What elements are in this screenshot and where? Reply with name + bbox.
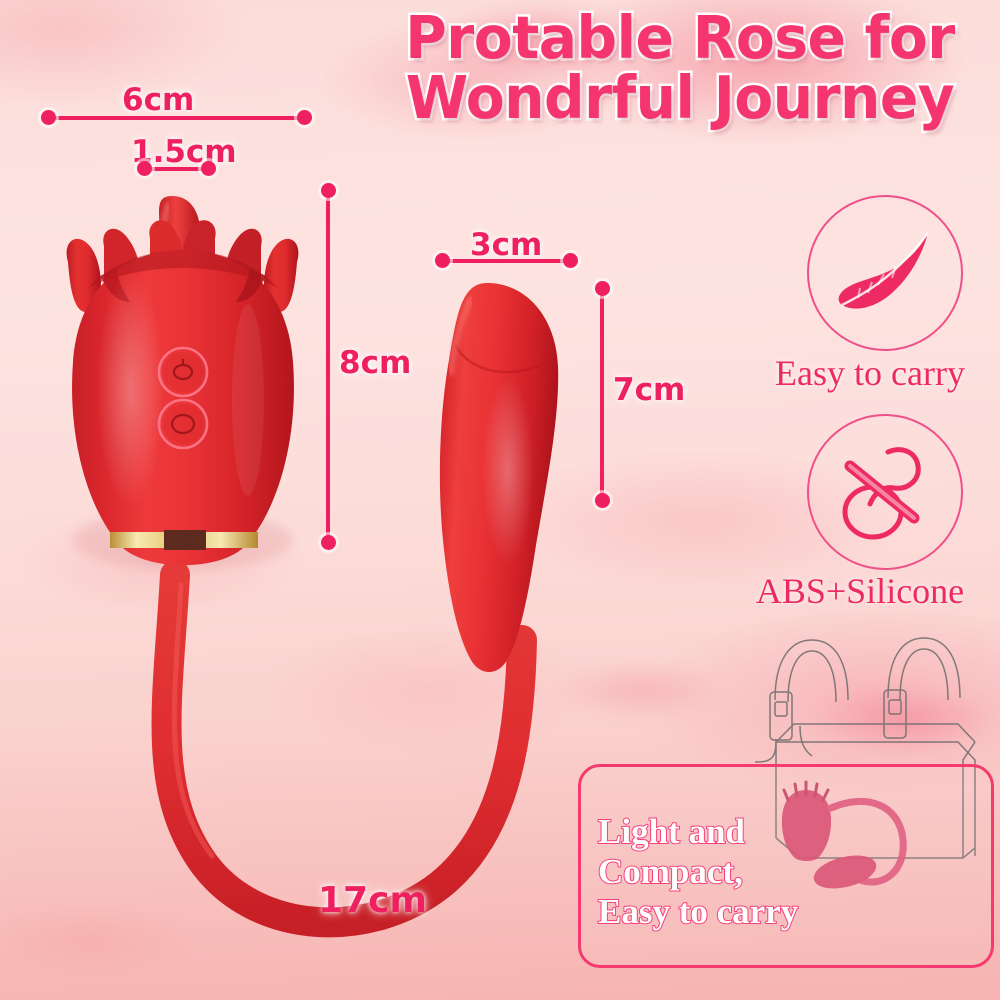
promo-line-1: Light and xyxy=(598,812,868,852)
feature-label-1: Easy to carry xyxy=(740,352,1000,394)
dimension-6cm-line xyxy=(48,116,304,120)
dimension-3cm-label: 3cm xyxy=(470,227,542,263)
dimension-7cm-dot-bottom xyxy=(595,493,610,508)
promo-line-2: Compact, xyxy=(598,852,868,892)
dimension-6cm-dot-right xyxy=(297,110,312,125)
product-infographic: Protable Rose for Wondrful Journey xyxy=(0,0,1000,1000)
pacifier-icon xyxy=(830,436,938,546)
dimension-8cm-dot-bottom xyxy=(321,535,336,550)
dimension-7cm-dot-top xyxy=(595,281,610,296)
dimension-3cm-dot-right xyxy=(563,253,578,268)
feature-label-2: ABS+Silicone xyxy=(720,570,1000,612)
dimension-8cm-label: 8cm xyxy=(339,345,411,381)
dimension-1-5cm-dot-left xyxy=(137,161,152,176)
dimension-7cm-label: 7cm xyxy=(613,372,685,408)
title-line-2: Wondrful Journey xyxy=(373,68,987,128)
feather-icon xyxy=(830,225,940,320)
dimension-8cm-dot-top xyxy=(321,183,336,198)
promo-panel-text: Light and Compact, Easy to carry xyxy=(598,812,868,932)
page-title: Protable Rose for Wondrful Journey xyxy=(373,8,987,128)
dimension-17cm-label: 17cm xyxy=(318,880,427,921)
promo-line-3: Easy to carry xyxy=(598,892,868,932)
dimension-1-5cm-line xyxy=(143,167,207,171)
dimension-3cm-line xyxy=(441,259,569,263)
dimension-1-5cm-dot-right xyxy=(201,161,216,176)
dimension-3cm-dot-left xyxy=(435,253,450,268)
title-line-1: Protable Rose for xyxy=(373,8,987,68)
dimension-6cm-dot-left xyxy=(41,110,56,125)
dimension-6cm-label: 6cm xyxy=(122,82,194,118)
dimension-8cm-line xyxy=(326,190,330,542)
dimension-7cm-line xyxy=(600,288,604,500)
